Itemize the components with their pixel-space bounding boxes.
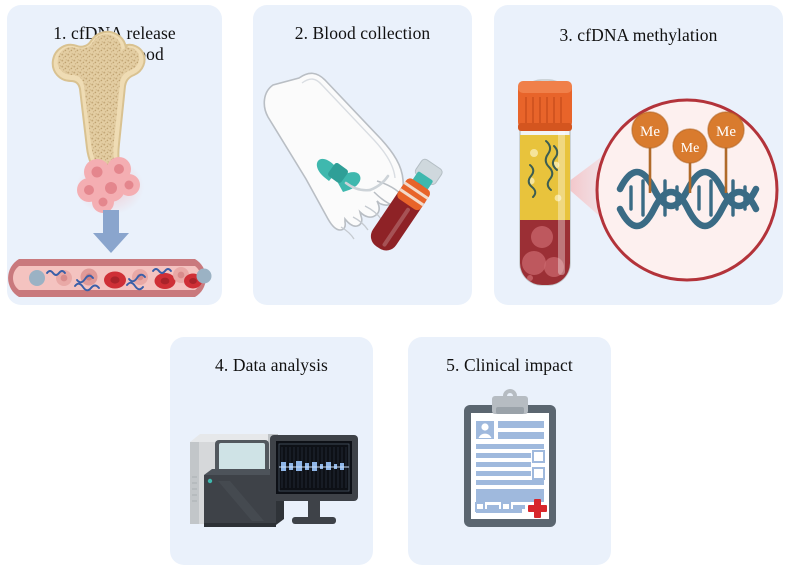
blood-tube [518, 80, 572, 290]
down-arrow [93, 210, 129, 253]
forearm [264, 73, 405, 239]
red-medical-cross [528, 499, 547, 518]
sequencing-trace-bands [282, 447, 346, 488]
methyl-group-marker: Me Me Me [632, 112, 744, 193]
panel-cfdna-release: 1. cfDNA release into the blood [7, 5, 222, 305]
clip [492, 389, 528, 414]
patient-avatar [476, 421, 494, 439]
panel-1-title: 1. cfDNA release into the blood [7, 23, 222, 64]
monitor-neck [308, 501, 320, 517]
tube-label [395, 176, 432, 212]
monitor-stand [292, 517, 336, 524]
computer-monitor [270, 435, 358, 524]
blood-cells [29, 267, 212, 289]
cfdna-fragments [47, 269, 171, 290]
panel-data-analysis: 4. Data analysis [170, 337, 373, 565]
blood-cell-layer [520, 220, 570, 290]
panel-5-title: 5. Clinical impact [408, 355, 611, 376]
panel-2-title: 2. Blood collection [253, 23, 472, 44]
tumor-glow [76, 159, 144, 215]
panel-3-title: 3. cfDNA methylation [494, 25, 783, 46]
panel-cfdna-methylation: 3. cfDNA methylation [494, 5, 783, 305]
form-text-lines [476, 421, 544, 513]
cfdna-squiggles [529, 141, 558, 197]
clipboard [464, 389, 556, 527]
panel-blood-collection: 2. Blood collection [253, 5, 472, 305]
sequencer-screen [219, 443, 265, 473]
vacutainer-tube [366, 157, 445, 256]
magnifier-circle: Me Me Me [597, 100, 777, 280]
tumor-cell-cluster [77, 157, 140, 213]
panel-clinical-impact: 5. Clinical impact [408, 337, 611, 565]
panel-4-title: 4. Data analysis [170, 355, 373, 376]
methyl-label: Me [640, 124, 660, 140]
drawn-blood [366, 176, 432, 255]
orange-cap [518, 81, 572, 131]
panel-3-illustration: Me Me Me [494, 5, 783, 305]
monitor-screen [276, 441, 352, 494]
panel-2-illustration [253, 5, 472, 305]
methyl-label: Me [681, 141, 700, 156]
blood-vessel [8, 259, 211, 297]
magnifier-beam [564, 125, 644, 255]
sequencer-front-panel [204, 475, 276, 525]
sequencer-machine [190, 434, 284, 527]
sequencer-screen-bezel [215, 440, 269, 480]
dna-double-helix [620, 172, 756, 226]
checkbox [476, 451, 544, 511]
butterfly-needle [317, 159, 388, 192]
plasma-layer [520, 135, 570, 220]
methyl-label: Me [716, 124, 736, 140]
monitor-bezel [270, 435, 358, 501]
paper-form [471, 413, 549, 519]
